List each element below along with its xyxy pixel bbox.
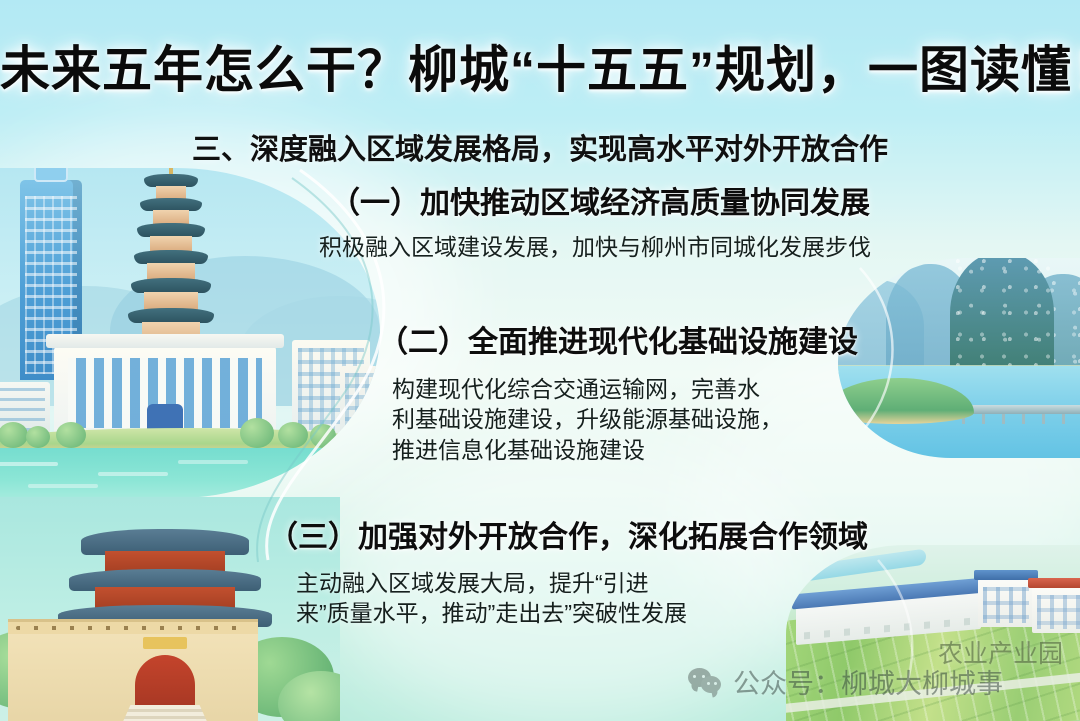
section-3-body-line: 主动融入区域发展大局，提升“引进 (296, 568, 826, 598)
text-layer: 未来五年怎么干？柳城“十五五”规划，一图读懂！ 三、深度融入区域发展格局，实现高… (0, 0, 1080, 721)
section-1-title: （一）加快推动区域经济高质量协同发展 (0, 178, 1080, 222)
watermark-text: 公众号：柳城大柳城事 (733, 662, 1003, 701)
section-1-body: 积极融入区域建设发展，加快与柳州市同城化发展步伐 (0, 232, 1080, 262)
wechat-icon (688, 668, 724, 696)
watermark: 公众号：柳城大柳城事 (688, 662, 1003, 701)
section-2-body-line: 构建现代化综合交通运输网，完善水 (392, 374, 892, 404)
section-2-body-line: 推进信息化基础设施建设 (392, 435, 892, 465)
section-2-body: 构建现代化综合交通运输网，完善水 利基础设施建设，升级能源基础设施， 推进信息化… (392, 374, 892, 465)
section-3-body: 主动融入区域发展大局，提升“引进 来”质量水平，推动”走出去”突破性发展 (296, 568, 826, 629)
page-title: 未来五年怎么干？柳城“十五五”规划，一图读懂！ (0, 30, 1080, 102)
section-group-heading: 三、深度融入区域发展格局，实现高水平对外开放合作 (0, 126, 1080, 168)
section-3-body-line: 来”质量水平，推动”走出去”突破性发展 (296, 598, 826, 628)
section-2-title: （二）全面推进现代化基础设施建设 (378, 317, 858, 361)
infographic-poster: 未来五年怎么干？柳城“十五五”规划，一图读懂！ 三、深度融入区域发展格局，实现高… (0, 0, 1080, 721)
section-2-body-line: 利基础设施建设，升级能源基础设施， (392, 404, 892, 434)
section-3-title: （三）加强对外开放合作，深化拓展合作领域 (268, 512, 868, 556)
